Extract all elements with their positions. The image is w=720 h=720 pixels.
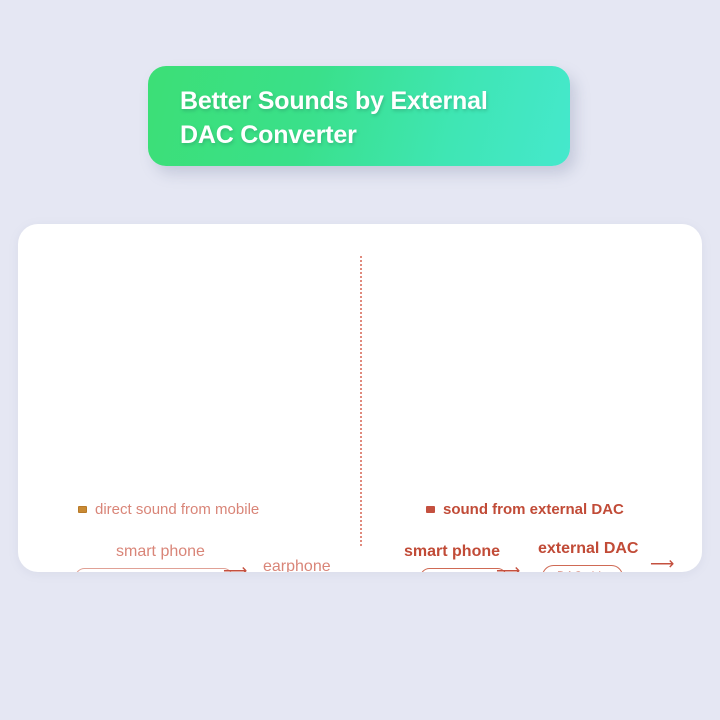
bullet-square-icon xyxy=(78,506,87,513)
left-smartphone-label: smart phone xyxy=(116,543,205,561)
right-smartphone-label: smart phone xyxy=(404,543,500,561)
left-signal-chain-pill: source→CPU→embed DAC xyxy=(75,568,233,572)
right-heading-label: sound from external DAC xyxy=(443,501,624,518)
right-flow-arrow-1-icon: ⟶ xyxy=(496,562,520,572)
vertical-divider xyxy=(360,256,362,546)
comparison-card: direct sound from mobile smart phone sou… xyxy=(18,224,702,572)
right-dac-chip-pill: DAC chip xyxy=(542,565,623,572)
left-earphone-label: earphone xyxy=(263,558,331,572)
left-heading-label: direct sound from mobile xyxy=(95,501,259,518)
left-heading-row: direct sound from mobile xyxy=(78,501,259,518)
page-title: Better Sounds by External DAC Converter xyxy=(180,84,544,152)
right-flow-arrow-2-icon: ⟶ xyxy=(650,555,674,572)
header-banner: Better Sounds by External DAC Converter xyxy=(148,66,570,166)
right-signal-chain-pill: source→CPU xyxy=(420,568,507,572)
right-heading-row: sound from external DAC xyxy=(426,501,624,518)
left-flow-arrow-icon: ⟶ xyxy=(223,562,247,572)
bullet-square-icon xyxy=(426,506,435,513)
right-external-dac-label: external DAC xyxy=(538,540,638,558)
